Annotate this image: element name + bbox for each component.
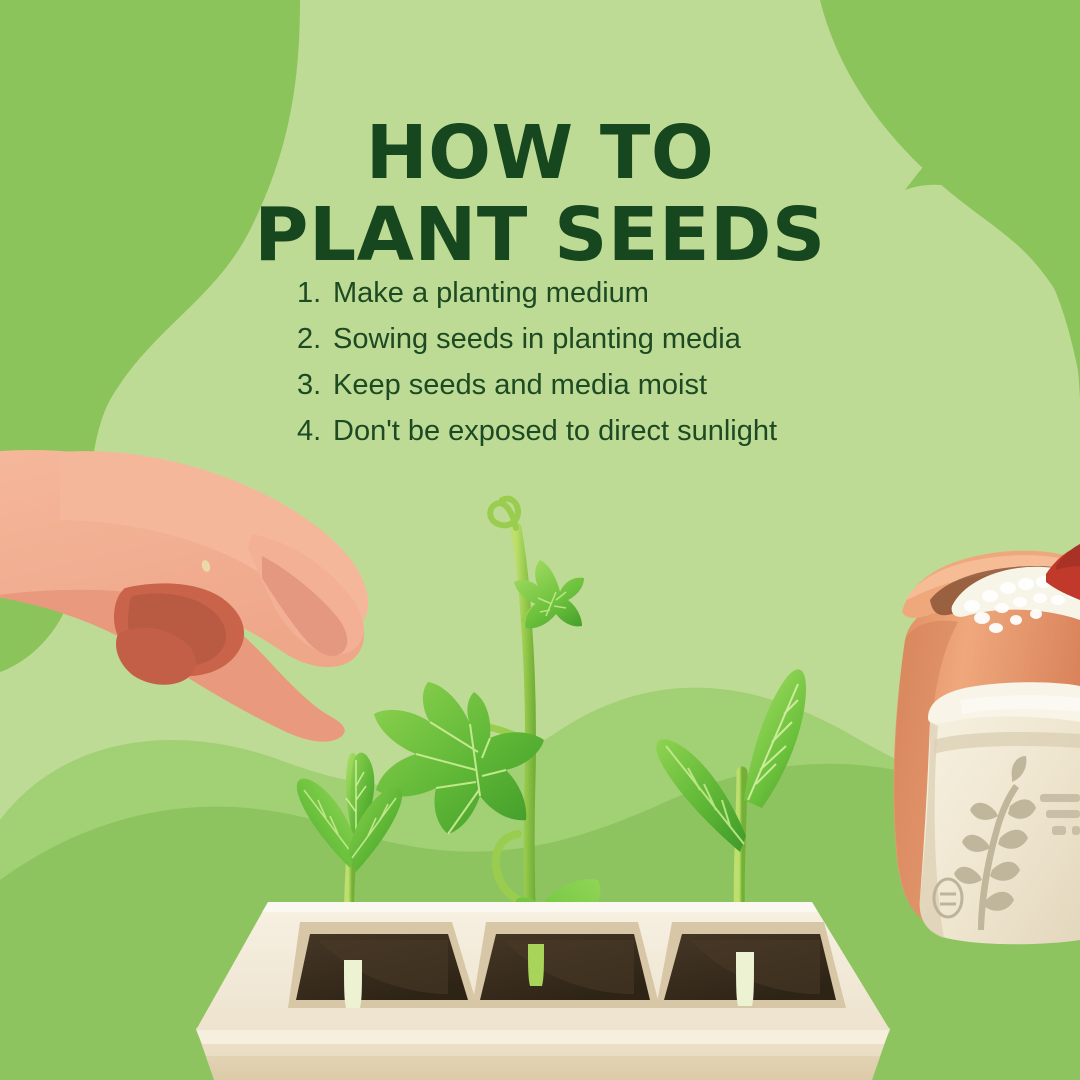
step-number: 3. — [297, 362, 333, 408]
step-text: Don't be exposed to direct sunlight — [333, 408, 777, 454]
step-text: Keep seeds and media moist — [333, 362, 707, 408]
step-text: Sowing seeds in planting media — [333, 316, 741, 362]
title-line-2: PLANT SEEDS — [0, 194, 1080, 277]
infographic-poster: HOW TO PLANT SEEDS 1. Make a planting me… — [0, 0, 1080, 1080]
title-line-1: HOW TO — [0, 112, 1080, 195]
step-text: Make a planting medium — [333, 270, 649, 316]
step-number: 1. — [297, 270, 333, 316]
step-number: 4. — [297, 408, 333, 454]
page-title: HOW TO PLANT SEEDS — [0, 112, 1080, 278]
text-layer: HOW TO PLANT SEEDS 1. Make a planting me… — [0, 0, 1080, 1080]
list-item: 4. Don't be exposed to direct sunlight — [297, 408, 937, 454]
steps-list: 1. Make a planting medium 2. Sowing seed… — [297, 270, 937, 454]
step-number: 2. — [297, 316, 333, 362]
list-item: 3. Keep seeds and media moist — [297, 362, 937, 408]
list-item: 1. Make a planting medium — [297, 270, 937, 316]
list-item: 2. Sowing seeds in planting media — [297, 316, 937, 362]
